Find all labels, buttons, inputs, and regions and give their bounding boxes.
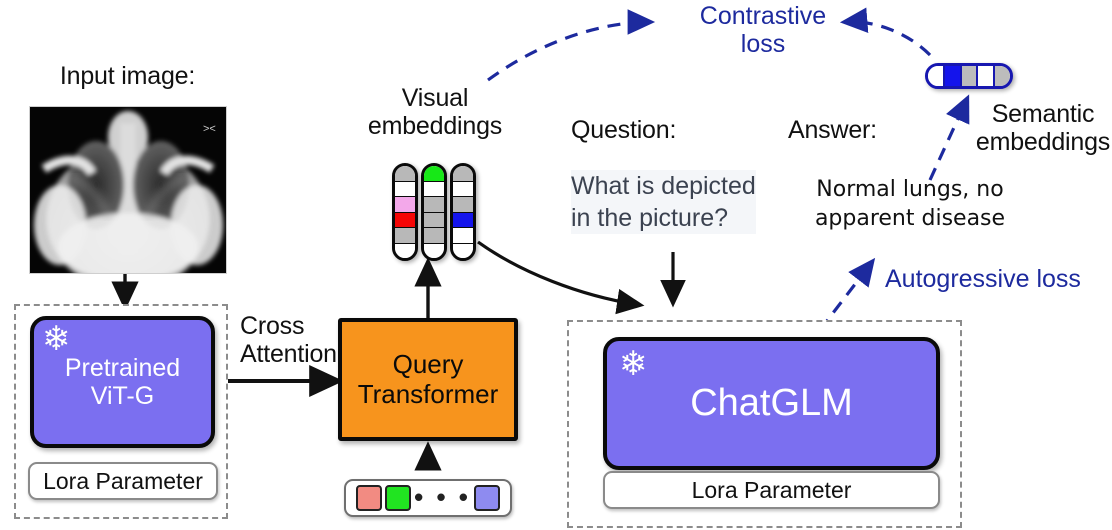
arrow-visual-to-llm xyxy=(478,242,640,305)
query-token-strip[interactable]: • • • xyxy=(344,479,512,517)
chatglm-model-box[interactable]: ❄ ChatGLM xyxy=(603,337,940,470)
question-label: Question: xyxy=(571,116,676,144)
token-green xyxy=(385,485,411,511)
vit-model-label: Pretrained ViT-G xyxy=(65,354,180,410)
dashed-arrow-semantic-to-contrastive xyxy=(845,22,930,55)
token-ellipsis: • • • xyxy=(414,490,471,506)
visual-pill-1 xyxy=(392,163,418,261)
query-transformer-label: Query Transformer xyxy=(358,350,499,408)
xray-svg: >< xyxy=(30,107,226,273)
snowflake-icon: ❄ xyxy=(619,347,648,381)
contrastive-loss-label: Contrastive loss xyxy=(683,2,843,58)
visual-pill-2 xyxy=(421,163,447,261)
vit-model-box[interactable]: ❄ Pretrained ViT-G xyxy=(30,316,215,448)
snowflake-icon: ❄ xyxy=(42,322,71,356)
token-red xyxy=(356,485,382,511)
query-transformer-box[interactable]: Query Transformer xyxy=(338,318,518,441)
llm-lora-label: Lora Parameter xyxy=(692,477,852,504)
dashed-arrow-answer-to-semantic xyxy=(930,99,967,180)
vision-lora-parameter[interactable]: Lora Parameter xyxy=(28,462,218,500)
chatglm-model-label: ChatGLM xyxy=(690,382,853,425)
llm-lora-parameter[interactable]: Lora Parameter xyxy=(603,471,940,509)
visual-pill-3 xyxy=(450,163,476,261)
vision-lora-label: Lora Parameter xyxy=(43,468,203,495)
question-text: What is depicted in the picture? xyxy=(571,170,756,234)
semantic-embeddings-pill xyxy=(925,63,1013,89)
input-image-caption: Input image: xyxy=(30,62,225,90)
semantic-embeddings-label: Semantic embeddings xyxy=(968,100,1112,156)
svg-text:><: >< xyxy=(203,123,216,135)
visual-embeddings-label: Visual embeddings xyxy=(355,84,515,140)
input-xray-image: >< xyxy=(29,106,227,274)
token-purple xyxy=(474,485,500,511)
dashed-arrow-visual-to-contrastive xyxy=(488,22,650,80)
autoregressive-loss-label: Autogressive loss xyxy=(885,265,1081,293)
diagram-canvas: Input image: xyxy=(0,0,1112,530)
answer-text: Normal lungs, no apparent disease xyxy=(800,176,1020,233)
answer-label: Answer: xyxy=(788,116,877,144)
